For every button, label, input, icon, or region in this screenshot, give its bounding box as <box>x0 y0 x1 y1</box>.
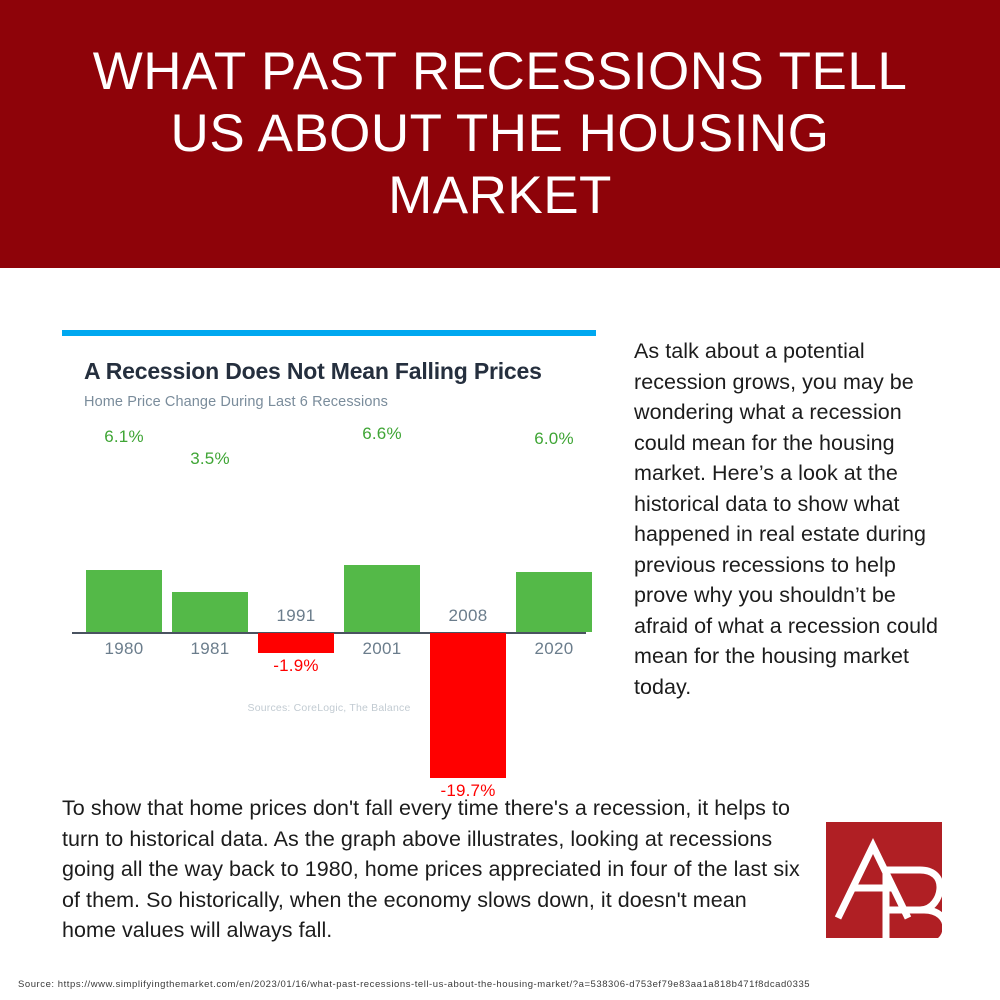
bar-value-1991: -1.9% <box>258 656 334 676</box>
bar-value-2001: 6.6% <box>344 424 420 444</box>
bar-2001 <box>344 565 420 632</box>
bar-group-2008: 2008 -19.7% <box>430 424 506 724</box>
bar-1981 <box>172 592 248 632</box>
ab-monogram-icon <box>820 818 954 952</box>
bar-1991 <box>258 633 334 653</box>
bar-category-1980: 1980 <box>86 639 162 659</box>
footer-bar: Source: https://www.simplifyingthemarket… <box>0 968 1000 1000</box>
bar-1980 <box>86 570 162 632</box>
brand-logo <box>820 818 954 952</box>
bar-category-2008: 2008 <box>430 606 506 626</box>
chart-card: A Recession Does Not Mean Falling Prices… <box>62 330 596 740</box>
bar-category-1981: 1981 <box>172 639 248 659</box>
bottom-paragraph: To show that home prices don't fall ever… <box>62 793 802 946</box>
bar-chart-plot: 6.1% 1980 3.5% 1981 1991 -1.9% 6.6% 2001… <box>62 424 596 724</box>
bar-value-2020: 6.0% <box>516 429 592 449</box>
footer-source-url[interactable]: Source: https://www.simplifyingthemarket… <box>18 979 810 990</box>
bar-group-1991: 1991 -1.9% <box>258 424 334 724</box>
bar-category-2020: 2020 <box>516 639 592 659</box>
chart-subtitle: Home Price Change During Last 6 Recessio… <box>84 394 596 410</box>
bar-group-2001: 6.6% 2001 <box>344 424 420 724</box>
bar-2020 <box>516 572 592 632</box>
bar-value-1980: 6.1% <box>86 427 162 447</box>
side-paragraph: As talk about a potential recession grow… <box>634 336 952 702</box>
bar-group-1981: 3.5% 1981 <box>172 424 248 724</box>
header-banner: WHAT PAST RECESSIONS TELL US ABOUT THE H… <box>0 0 1000 268</box>
accent-divider <box>62 330 596 336</box>
bar-category-1991: 1991 <box>258 606 334 626</box>
chart-title: A Recession Does Not Mean Falling Prices <box>84 358 596 385</box>
bar-group-1980: 6.1% 1980 <box>86 424 162 724</box>
bar-category-2001: 2001 <box>344 639 420 659</box>
bar-value-1981: 3.5% <box>172 449 248 469</box>
bar-group-2020: 6.0% 2020 <box>516 424 592 724</box>
page-title: WHAT PAST RECESSIONS TELL US ABOUT THE H… <box>30 41 970 227</box>
chart-source-note: Sources: CoreLogic, The Balance <box>62 702 596 714</box>
